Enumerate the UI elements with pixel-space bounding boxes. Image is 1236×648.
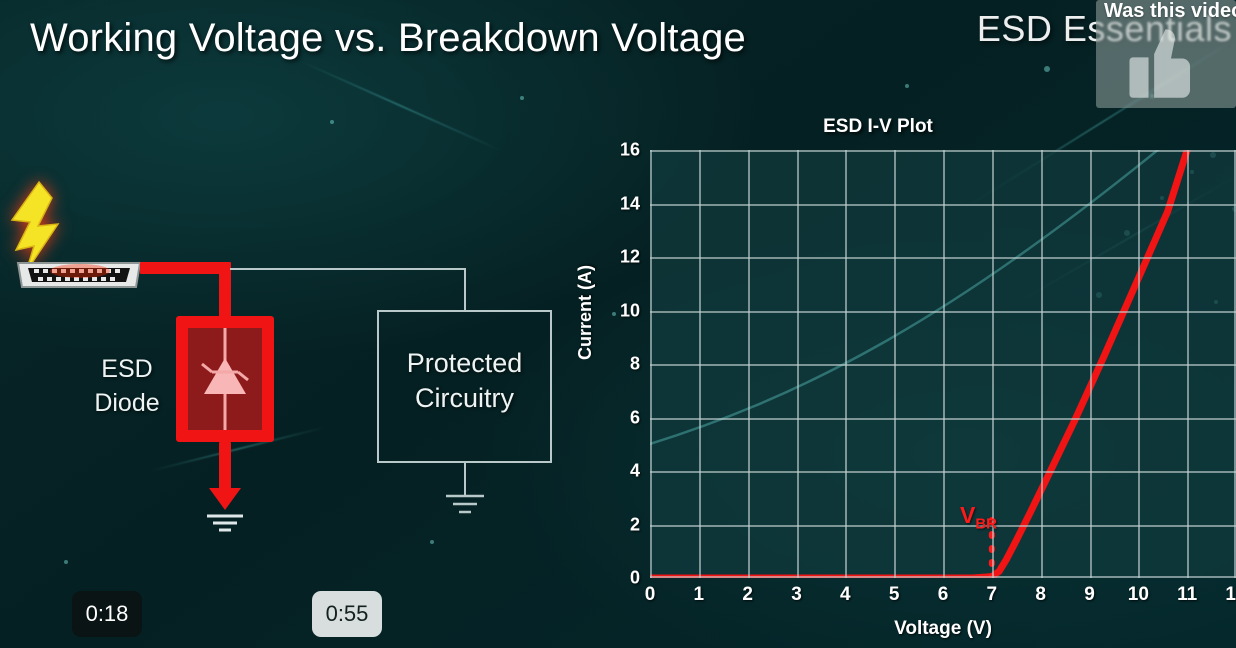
chart-gridline-horizontal — [650, 525, 1236, 527]
gray-wire-vertical-to-block — [464, 268, 466, 312]
background-speck — [1044, 66, 1050, 72]
chart-y-tick-label: 12 — [594, 247, 640, 268]
video-survey-overlay[interactable]: Was this video — [1096, 0, 1236, 108]
esd-iv-chart: ESD I-V Plot Current (A) Voltage (V) 024… — [578, 110, 1236, 648]
page-title: Working Voltage vs. Breakdown Voltage — [30, 16, 746, 61]
circuit-diagram: ESD Diode Protected Circuitry — [0, 150, 600, 570]
esd-diode-label: ESD Diode — [82, 353, 172, 421]
gray-wire-block-to-ground — [464, 463, 466, 495]
red-wire-vertical-to-diode — [219, 262, 231, 324]
chart-gridline-horizontal — [650, 150, 1236, 152]
chart-y-tick-label: 14 — [594, 193, 640, 214]
chart-y-tick-label: 2 — [594, 514, 640, 535]
chart-y-tick-label: 4 — [594, 461, 640, 482]
tvs-zener-diode-icon — [188, 328, 262, 430]
survey-prompt-text: Was this video — [1104, 0, 1236, 23]
timestamp-duration-chip[interactable]: 0:55 — [312, 591, 382, 637]
chart-x-tick-label: 4 — [825, 584, 865, 606]
background-streak — [300, 60, 502, 151]
chart-title: ESD I-V Plot — [578, 116, 1178, 138]
red-ground-arrow-icon — [202, 482, 248, 534]
chart-x-tick-label: 3 — [777, 584, 817, 606]
red-wire-horizontal — [140, 262, 230, 274]
vbr-subscript-text: BR — [975, 516, 997, 533]
chart-x-tick-label: 11 — [1167, 584, 1207, 606]
esd-diode-label-line2: Diode — [82, 387, 172, 421]
chart-gridline-horizontal — [650, 418, 1236, 420]
chart-x-tick-label: 8 — [1021, 584, 1061, 606]
background-speck — [520, 96, 524, 100]
chart-y-tick-label: 6 — [594, 407, 640, 428]
chart-gridline-horizontal — [650, 204, 1236, 206]
chart-gridline-horizontal — [650, 576, 1236, 578]
chart-y-tick-label: 16 — [594, 140, 640, 161]
protected-circuitry-label: Protected Circuitry — [377, 346, 552, 415]
background-speck — [330, 120, 334, 124]
breakdown-voltage-annotation: VBR — [960, 502, 997, 533]
background-speck — [905, 84, 909, 88]
slide-canvas: Working Voltage vs. Breakdown Voltage ES… — [0, 0, 1236, 648]
ground-symbol-icon — [442, 492, 488, 516]
esd-diode-block — [176, 316, 274, 442]
chart-x-tick-label: 0 — [630, 584, 670, 606]
chart-x-tick-label: 12 — [1216, 584, 1236, 606]
vbr-main-text: V — [960, 502, 975, 528]
chart-x-tick-label: 10 — [1118, 584, 1158, 606]
chart-x-tick-label: 1 — [679, 584, 719, 606]
timestamp-elapsed-chip[interactable]: 0:18 — [72, 591, 142, 637]
chart-x-tick-label: 9 — [1070, 584, 1110, 606]
chart-gridline-horizontal — [650, 257, 1236, 259]
chart-x-tick-label: 2 — [728, 584, 768, 606]
chart-x-tick-label: 5 — [874, 584, 914, 606]
chart-x-tick-label: 6 — [923, 584, 963, 606]
chart-gridline-horizontal — [650, 311, 1236, 313]
protected-label-line1: Protected — [377, 346, 552, 381]
protected-label-line2: Circuitry — [377, 381, 552, 416]
chart-plot-area — [650, 150, 1236, 578]
chart-y-tick-label: 10 — [594, 300, 640, 321]
gray-wire-horizontal — [230, 268, 466, 270]
hdmi-connector-icon — [14, 257, 144, 293]
chart-gridline-horizontal — [650, 471, 1236, 473]
esd-diode-label-line1: ESD — [82, 353, 172, 387]
chart-y-axis-label: Current (A) — [575, 265, 596, 360]
chart-y-tick-label: 8 — [594, 354, 640, 375]
chart-gridline-horizontal — [650, 364, 1236, 366]
chart-x-tick-label: 7 — [972, 584, 1012, 606]
thumbs-up-icon[interactable] — [1126, 26, 1198, 100]
chart-x-axis-label: Voltage (V) — [650, 618, 1236, 640]
